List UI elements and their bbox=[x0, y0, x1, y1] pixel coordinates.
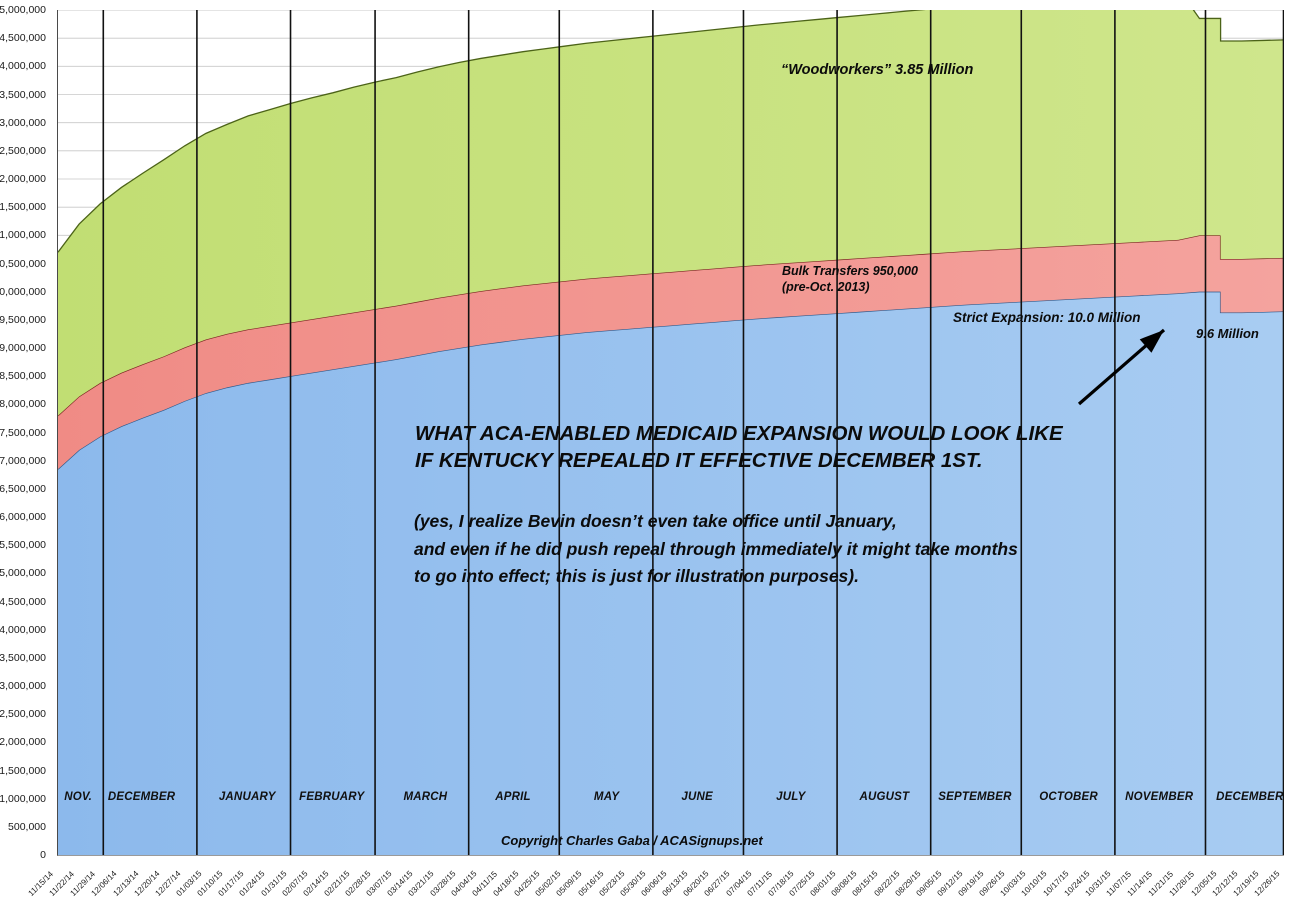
y-axis-tick: 6,000,000 bbox=[0, 511, 46, 523]
y-axis-tick: 10,000,000 bbox=[0, 286, 46, 298]
month-band-label: AUGUST bbox=[860, 791, 910, 803]
y-axis-tick: 14,500,000 bbox=[0, 32, 46, 44]
y-axis-tick: 13,000,000 bbox=[0, 117, 46, 129]
y-axis-tick: 14,000,000 bbox=[0, 60, 46, 72]
y-axis-tick: 8,000,000 bbox=[0, 398, 46, 410]
annotation-woodworkers: “Woodworkers” 3.85 Million bbox=[781, 62, 973, 78]
y-axis-tick: 9,500,000 bbox=[0, 314, 46, 326]
y-axis-tick: 3,500,000 bbox=[0, 652, 46, 664]
month-band-label: APRIL bbox=[495, 791, 531, 803]
y-axis-tick: 1,000,000 bbox=[0, 793, 46, 805]
x-axis-labels: 11/15/1411/22/1411/29/1412/06/1412/13/14… bbox=[57, 857, 1300, 905]
y-axis-tick: 7,000,000 bbox=[0, 455, 46, 467]
annotation-copyright: Copyright Charles Gaba / ACASignups.net bbox=[501, 833, 763, 848]
annotation-strict-expansion: Strict Expansion: 10.0 Million bbox=[953, 310, 1141, 325]
month-band-label: JANUARY bbox=[219, 791, 276, 803]
y-axis-tick: 1,500,000 bbox=[0, 765, 46, 777]
month-band-label: NOVEMBER bbox=[1125, 791, 1193, 803]
month-band-label: MARCH bbox=[403, 791, 447, 803]
y-axis-tick: 11,500,000 bbox=[0, 201, 46, 213]
y-axis-tick: 6,500,000 bbox=[0, 483, 46, 495]
y-axis-tick: 11,000,000 bbox=[0, 229, 46, 241]
y-axis-tick: 12,500,000 bbox=[0, 145, 46, 157]
month-band-label: FEBRUARY bbox=[299, 791, 364, 803]
y-axis-tick: 4,500,000 bbox=[0, 596, 46, 608]
annotation-headline: WHAT ACA-ENABLED MEDICAID EXPANSION WOUL… bbox=[415, 420, 1063, 474]
y-axis-tick: 2,500,000 bbox=[0, 708, 46, 720]
y-axis-tick: 3,000,000 bbox=[0, 680, 46, 692]
y-axis-tick: 7,500,000 bbox=[0, 427, 46, 439]
annotation-final-value: 9.6 Million bbox=[1196, 326, 1259, 341]
y-axis-tick: 10,500,000 bbox=[0, 258, 46, 270]
month-band-label: DECEMBER bbox=[1216, 791, 1283, 803]
y-axis-tick: 9,000,000 bbox=[0, 342, 46, 354]
month-band-label: JULY bbox=[776, 791, 805, 803]
y-axis-tick: 0 bbox=[40, 849, 46, 861]
chart-root: 15,000,00014,500,00014,000,00013,500,000… bbox=[0, 0, 1300, 905]
annotation-caveat: (yes, I realize Bevin doesn’t even take … bbox=[414, 508, 1018, 591]
month-band-label: SEPTEMBER bbox=[938, 791, 1011, 803]
month-band-label: NOV. bbox=[64, 791, 92, 803]
month-band-label: JUNE bbox=[681, 791, 712, 803]
y-axis-tick: 5,000,000 bbox=[0, 567, 46, 579]
y-axis-tick: 15,000,000 bbox=[0, 4, 46, 16]
y-axis-tick: 8,500,000 bbox=[0, 370, 46, 382]
y-axis-tick: 2,000,000 bbox=[0, 736, 46, 748]
y-axis-tick: 12,000,000 bbox=[0, 173, 46, 185]
y-axis-tick: 13,500,000 bbox=[0, 89, 46, 101]
month-band-label: DECEMBER bbox=[108, 791, 175, 803]
month-band-label: OCTOBER bbox=[1039, 791, 1098, 803]
y-axis-tick: 500,000 bbox=[8, 821, 46, 833]
y-axis-tick: 5,500,000 bbox=[0, 539, 46, 551]
annotation-bulk-transfers: Bulk Transfers 950,000 (pre-Oct. 2013) bbox=[782, 263, 918, 295]
month-band-label: MAY bbox=[594, 791, 619, 803]
y-axis-tick: 4,000,000 bbox=[0, 624, 46, 636]
y-axis-labels: 15,000,00014,500,00014,000,00013,500,000… bbox=[0, 0, 52, 865]
